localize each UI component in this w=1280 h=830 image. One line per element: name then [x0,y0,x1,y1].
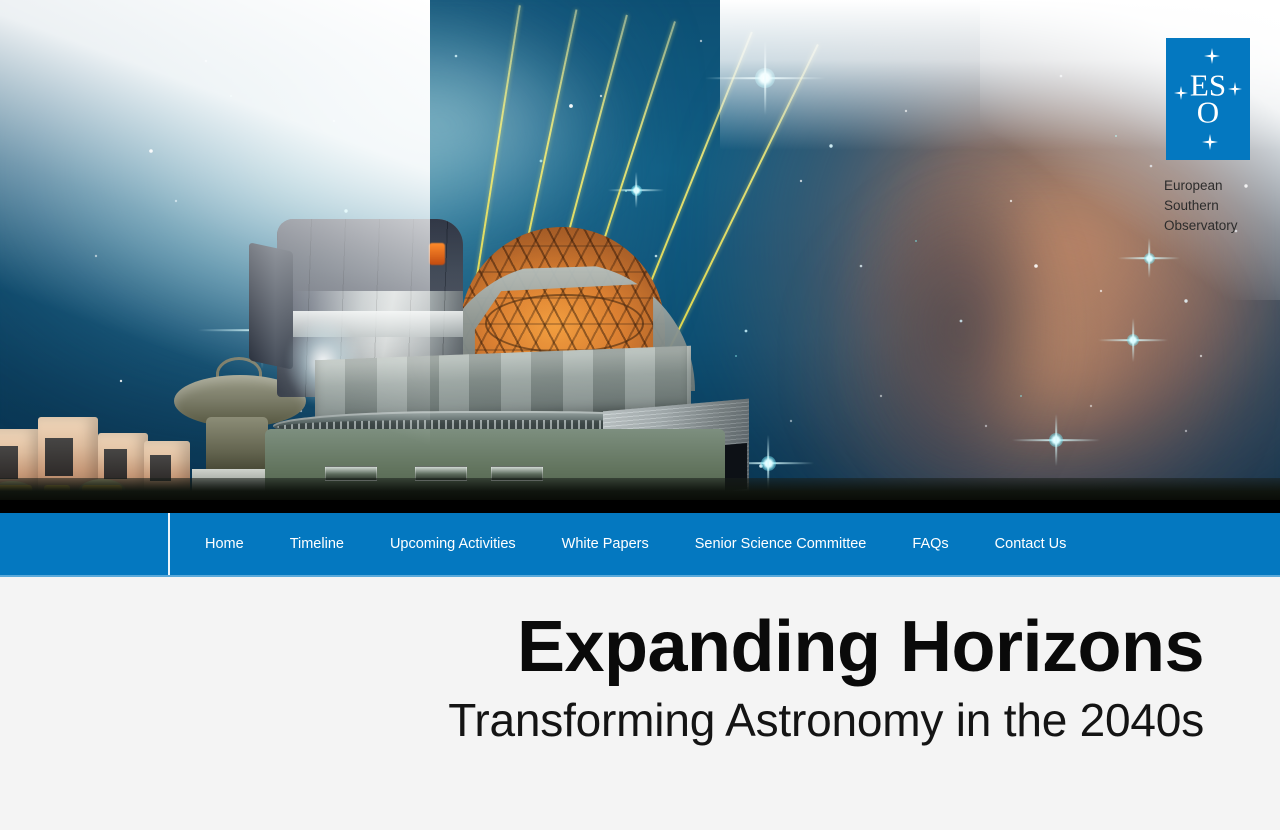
nav-item-timeline[interactable]: Timeline [270,537,364,552]
foreground-ground [0,478,1280,500]
org-line-2: Southern [1164,196,1256,216]
page-title: Expanding Horizons [448,609,1204,685]
page-subtitle: Transforming Astronomy in the 2040s [448,695,1204,747]
page-heading-block: Expanding Horizons Transforming Astronom… [448,609,1204,747]
main-navigation: Home Timeline Upcoming Activities White … [0,513,1280,575]
nav-item-contact-us[interactable]: Contact Us [975,537,1087,552]
nav-item-upcoming-activities[interactable]: Upcoming Activities [370,537,536,552]
eso-logo-o: O [1166,98,1250,127]
hero-bottom-band [0,500,1280,513]
page-content: Expanding Horizons Transforming Astronom… [0,577,1280,830]
hero-banner [0,0,1280,500]
org-line-1: European [1164,176,1256,196]
eso-organisation-name: European Southern Observatory [1164,176,1256,236]
tower-warning-light [429,243,445,265]
eso-logo-mark: ES O [1166,38,1250,160]
elt-telescope-dome [255,225,755,500]
nav-item-senior-science-committee[interactable]: Senior Science Committee [675,537,887,552]
eso-logo-letters: ES O [1166,71,1250,126]
nav-item-white-papers[interactable]: White Papers [542,537,669,552]
eso-logo[interactable]: ES O European Southern Observatory [1164,38,1256,236]
four-point-star-icon [1204,48,1220,64]
nav-item-faqs[interactable]: FAQs [892,537,968,552]
nav-item-home[interactable]: Home [185,537,264,552]
hero-image [0,0,1280,500]
nav-items-list: Home Timeline Upcoming Activities White … [168,513,1089,575]
starfield-teal [0,0,2,2]
four-point-star-icon [1202,134,1218,150]
page-root: ES O European Southern Observatory Home … [0,0,1280,830]
org-line-3: Observatory [1164,216,1256,236]
